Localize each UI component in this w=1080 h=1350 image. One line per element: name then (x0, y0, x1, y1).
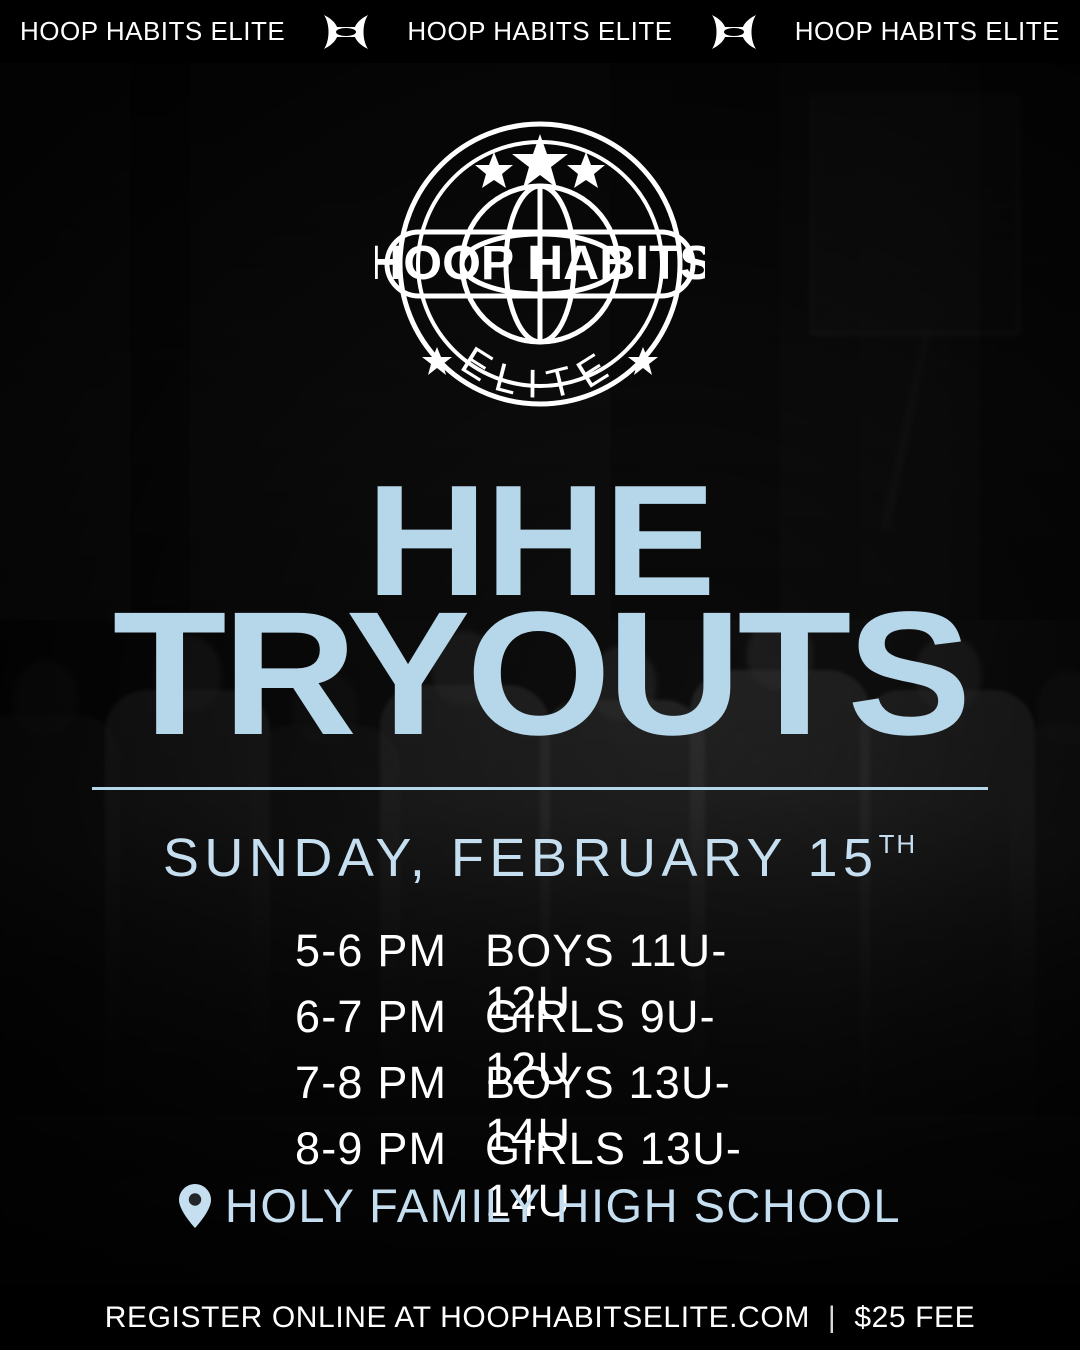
venue-name: HOLY FAMILY HIGH SCHOOL (225, 1178, 901, 1233)
register-text[interactable]: REGISTER ONLINE AT HOOPHABITSELITE.COM (105, 1301, 810, 1335)
schedule-row: 5-6 PM BOYS 11U-12U (0, 925, 1080, 981)
ticker-text-1: HOOP HABITS ELITE (20, 16, 285, 47)
ticker-text-3: HOOP HABITS ELITE (795, 16, 1060, 47)
divider-rule (92, 787, 988, 790)
schedule-row: 6-7 PM GIRLS 9U-12U (0, 991, 1080, 1047)
event-date: SUNDAY, FEBRUARY 15TH (0, 827, 1080, 889)
hoop-habits-elite-logo: HOOP HABITS ELITE (375, 104, 705, 442)
svg-text:HOOP HABITS: HOOP HABITS (375, 237, 705, 290)
schedule-row: 7-8 PM BOYS 13U-14U (0, 1057, 1080, 1113)
fee-text: $25 FEE (854, 1301, 975, 1335)
svg-text:ELITE: ELITE (454, 339, 627, 407)
schedule-list: 5-6 PM BOYS 11U-12U 6-7 PM GIRLS 9U-12U … (0, 925, 1080, 1179)
schedule-time: 7-8 PM (295, 1057, 485, 1109)
tryouts-flyer: HOOP HABITS ELITE HOOP HABITS ELITE HOOP… (0, 0, 1080, 1350)
event-date-ordinal: TH (879, 831, 918, 859)
under-armour-logo (318, 14, 374, 50)
event-location: HOLY FAMILY HIGH SCHOOL (0, 1178, 1080, 1233)
schedule-time: 6-7 PM (295, 991, 485, 1043)
schedule-row: 8-9 PM GIRLS 13U-14U (0, 1123, 1080, 1179)
map-pin-icon (179, 1184, 211, 1228)
schedule-time: 8-9 PM (295, 1123, 485, 1175)
schedule-time: 5-6 PM (295, 925, 485, 977)
headline-line-2: TRYOUTS (0, 604, 1080, 745)
page-title: HHE TRYOUTS (0, 478, 1080, 745)
footer-bar: REGISTER ONLINE AT HOOPHABITSELITE.COM |… (0, 1285, 1080, 1350)
under-armour-logo (706, 14, 762, 50)
top-ticker-bar: HOOP HABITS ELITE HOOP HABITS ELITE HOOP… (0, 0, 1080, 63)
footer-separator: | (828, 1301, 836, 1335)
ticker-text-2: HOOP HABITS ELITE (407, 16, 672, 47)
event-date-text: SUNDAY, FEBRUARY 15 (163, 828, 879, 888)
